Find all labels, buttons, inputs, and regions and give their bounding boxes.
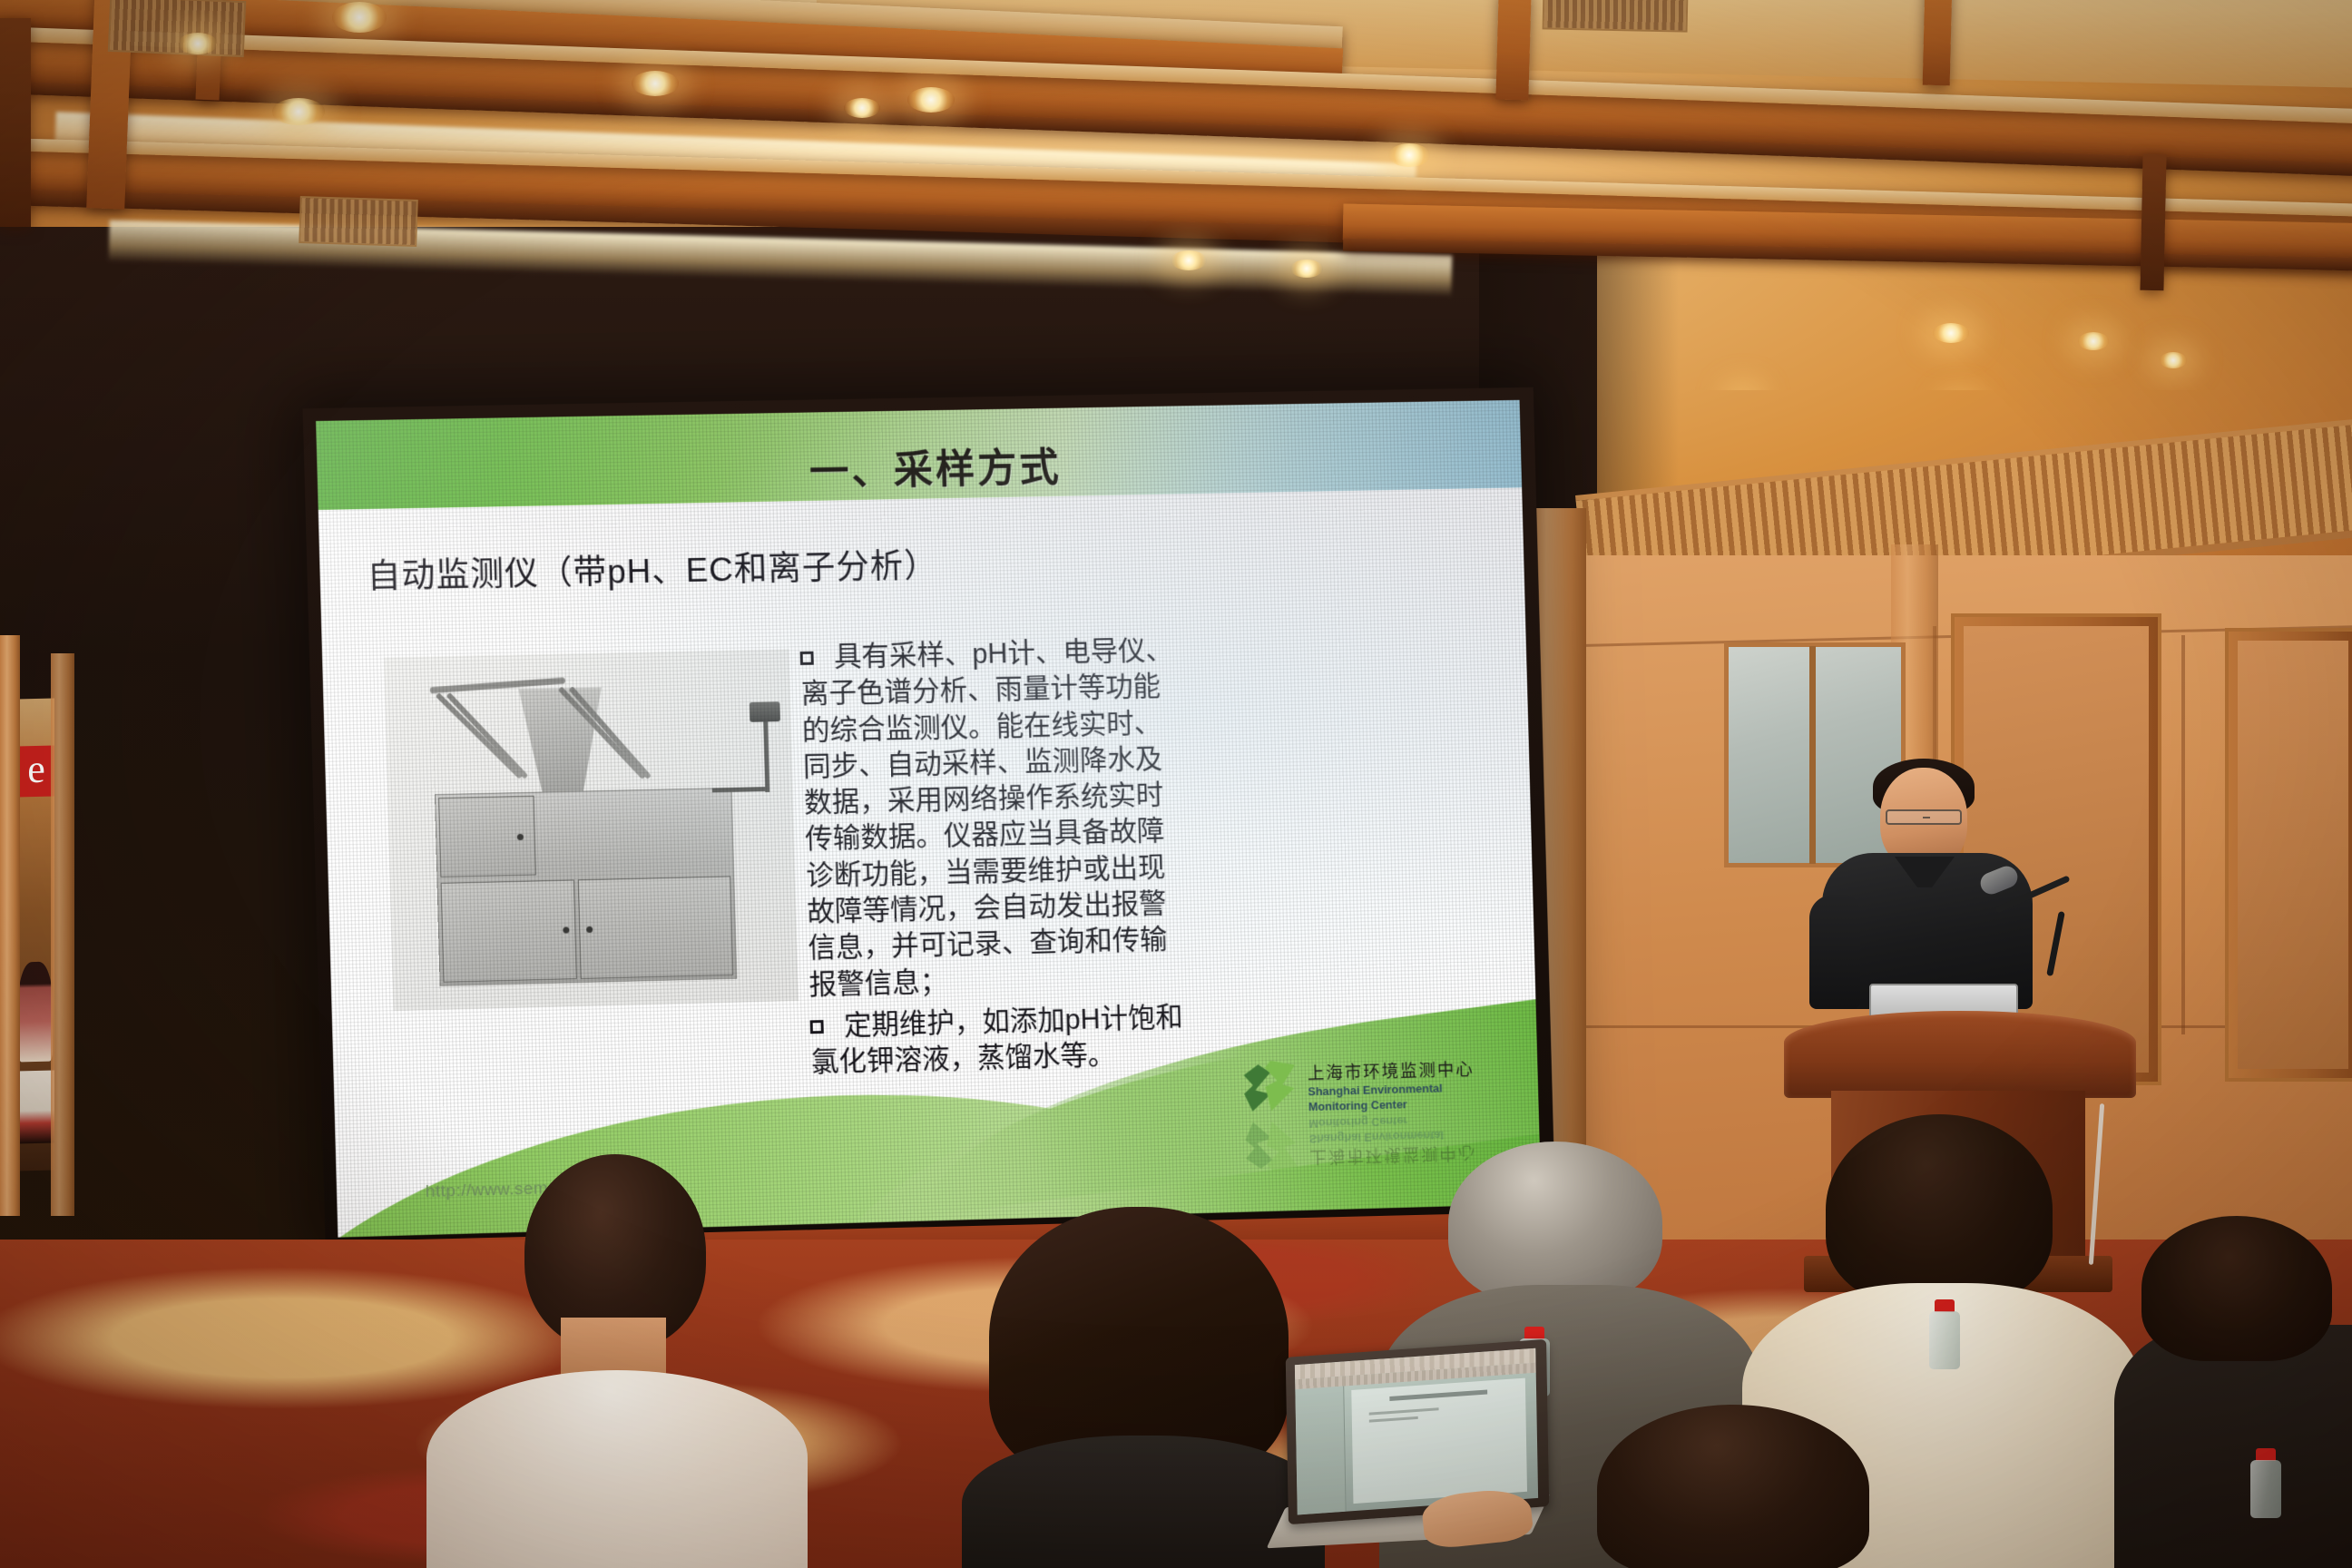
logo-name-cn: 上海市环境监测中心 [1307, 1056, 1475, 1084]
recessed-downlight [1933, 323, 1969, 343]
recessed-downlight [907, 87, 955, 113]
presenter-arm [1809, 895, 1860, 1009]
recessed-downlight [1290, 260, 1323, 278]
presentation-slide: 一、采样方式 自动监测仪（带pH、EC和离子分析） [316, 400, 1541, 1238]
list-item [426, 1154, 808, 1568]
sampler-photo [384, 649, 799, 1011]
ceiling-air-vent [108, 0, 246, 57]
bottle-cap [2256, 1448, 2276, 1461]
recessed-downlight [1388, 143, 1430, 167]
recessed-downlight [2078, 332, 2109, 350]
left-wall-gap: e [16, 699, 54, 1171]
laptop-app-sidebar [1295, 1387, 1346, 1515]
leaf-logo-icon-reflection [1245, 1115, 1301, 1172]
bottle-body [1929, 1311, 1960, 1369]
document-title-line [1390, 1390, 1487, 1402]
ceiling-air-vent [299, 196, 418, 247]
microphone-gooseneck[interactable] [2046, 911, 2065, 976]
recessed-downlight [2160, 352, 2187, 368]
conference-room-photo: e 一、采样方式 自动监测仪（带pH、EC和离子分析） [0, 0, 2352, 1568]
audience-hair-dark [1826, 1114, 2053, 1305]
audience-shoulders-dark [962, 1436, 1325, 1568]
bottle-cap [1935, 1299, 1955, 1312]
distant-person [18, 962, 53, 1063]
audience-hair-dark [1597, 1405, 1869, 1568]
recessed-downlight [632, 71, 679, 96]
wet-deposition-sampler-illustration [384, 649, 799, 1011]
slide-subtitle: 自动监测仪（带pH、EC和离子分析） [367, 538, 938, 598]
distant-person [16, 1071, 54, 1144]
left-wall-pillar [0, 635, 20, 1216]
bullet-text: 具有采样、pH计、电导仪、离子色谱分析、雨量计等功能的综合监测仪。能在线实时、同… [800, 634, 1173, 1000]
bottle-body [2250, 1460, 2281, 1518]
bottle-cap [1524, 1327, 1544, 1339]
podium-top [1784, 1011, 2136, 1098]
list-item [2114, 1216, 2352, 1568]
square-bullet-icon [800, 652, 814, 665]
list-item [962, 1207, 1325, 1568]
audience-hair-dark [2141, 1216, 2332, 1361]
audience-shoulders-white-shirt [426, 1370, 808, 1568]
projection-screen: 一、采样方式 自动监测仪（带pH、EC和离子分析） [316, 400, 1541, 1238]
water-bottle[interactable] [2249, 1448, 2285, 1521]
audience-shoulders-dark [2114, 1325, 2352, 1568]
door-far-right[interactable] [2225, 628, 2352, 1082]
recessed-downlight [272, 98, 325, 125]
recessed-downlight [178, 33, 218, 54]
coffered-ceiling [0, 0, 2352, 390]
red-sign-letter: e [16, 745, 54, 797]
semc-logo: 上海市环境监测中心 Shanghai Environmental Monitor… [1243, 1055, 1475, 1117]
list-item [1543, 1405, 1933, 1568]
list-item: 具有采样、pH计、电导仪、离子色谱分析、雨量计等功能的综合监测仪。能在线实时、同… [799, 632, 1183, 1004]
water-bottle[interactable] [1927, 1299, 1964, 1372]
recessed-downlight [1171, 250, 1207, 270]
laptop-screen [1295, 1348, 1538, 1515]
rain-sensor [750, 701, 780, 722]
recessed-downlight [844, 98, 880, 118]
laptop-document-page [1351, 1378, 1527, 1504]
ceiling-air-vent [1543, 0, 1689, 33]
leaf-logo-icon [1243, 1060, 1299, 1117]
eyeglasses [1886, 809, 1962, 825]
left-wall-pillar [51, 653, 74, 1216]
audience-hair-grey [1448, 1142, 1662, 1305]
audience-laptop[interactable] [1287, 1348, 1559, 1541]
recessed-downlight [332, 2, 387, 33]
